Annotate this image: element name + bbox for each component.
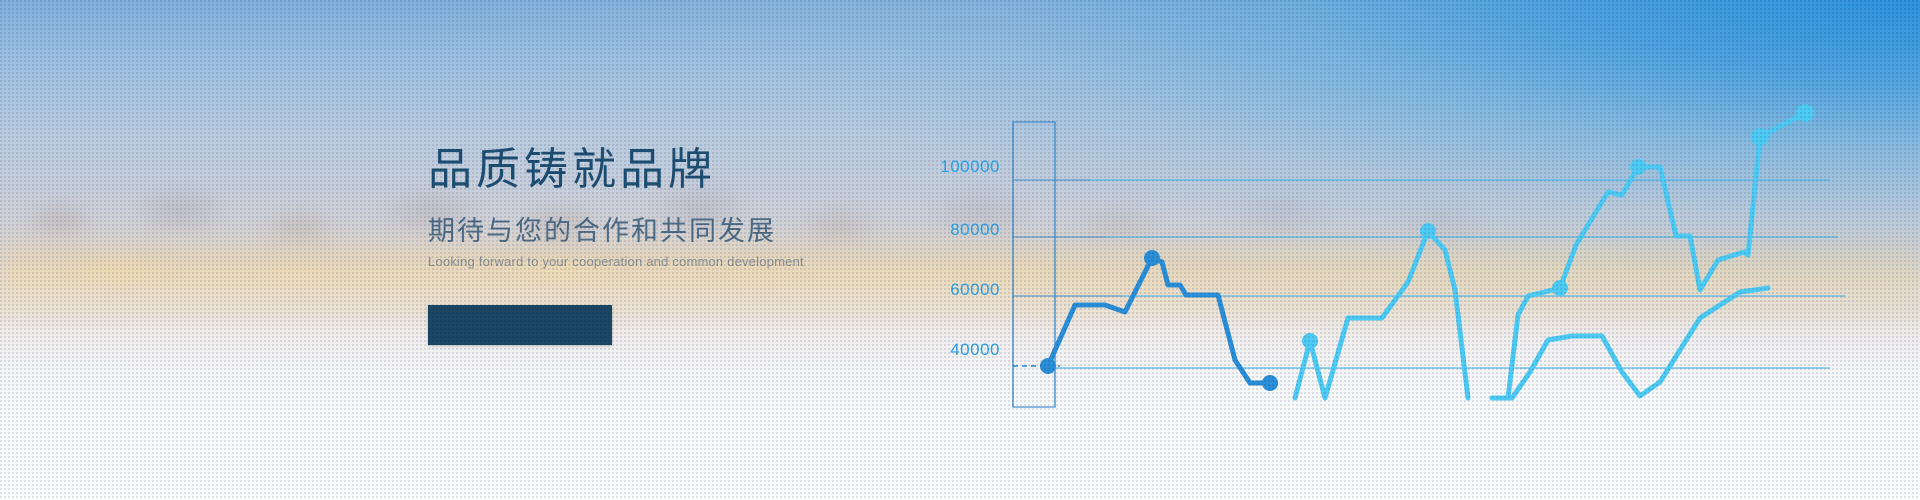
halftone-dot-overlay [0, 0, 1920, 500]
hero-banner: 100000 80000 60000 40000 [0, 0, 1920, 500]
